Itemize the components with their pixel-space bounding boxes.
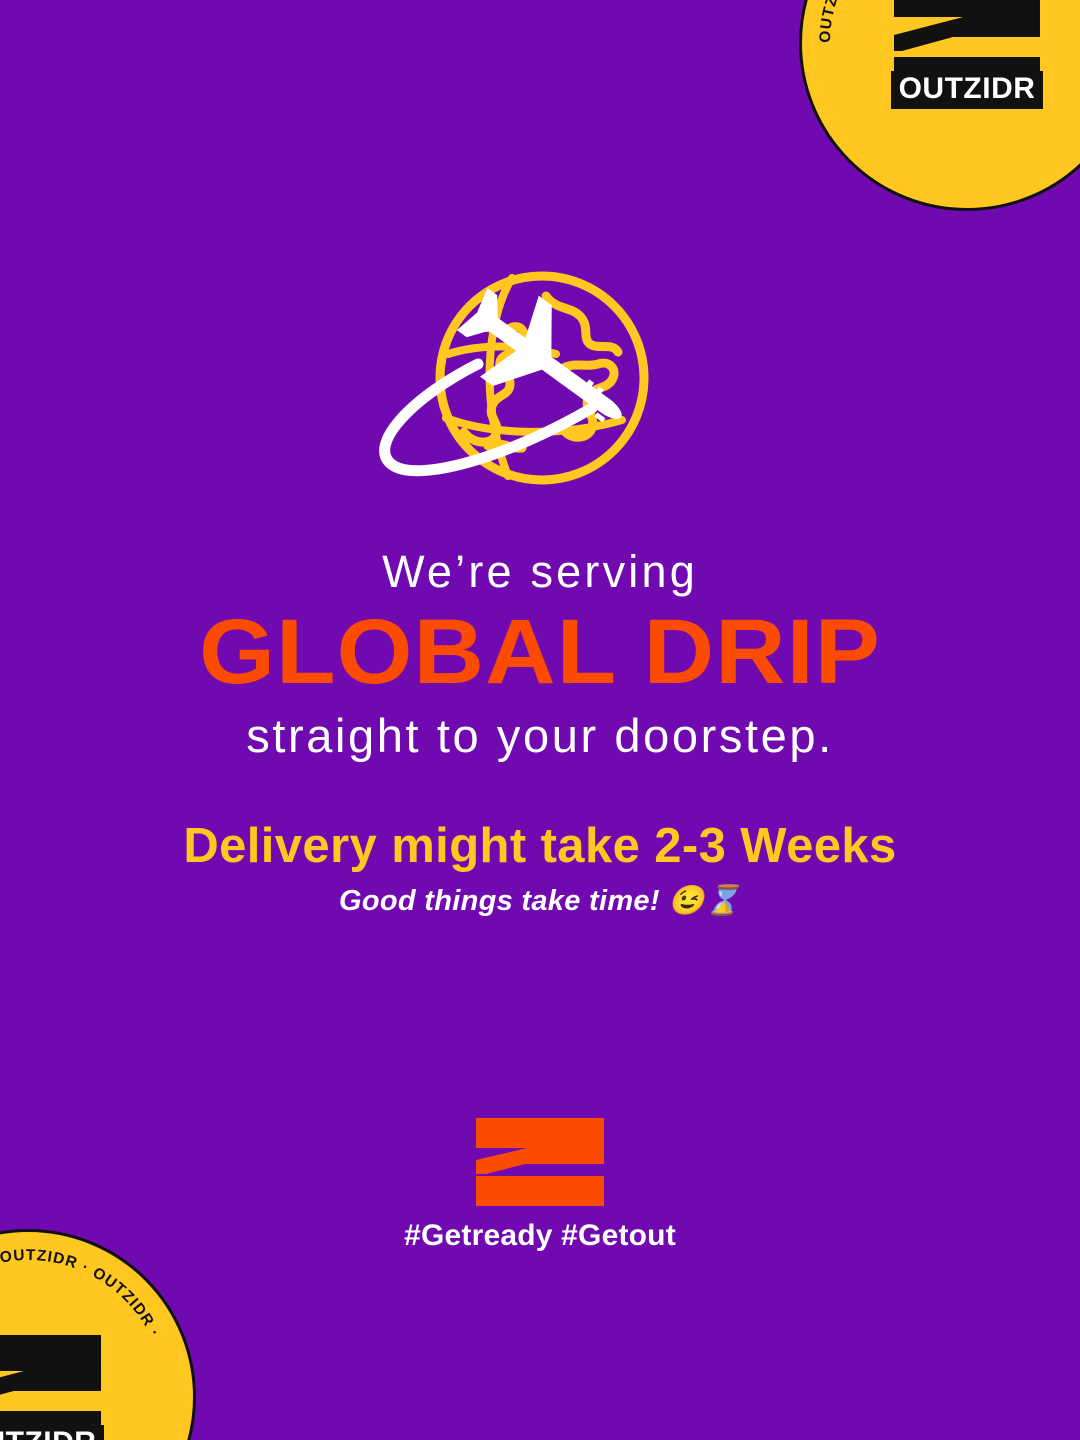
main-copy-block: We’re serving GLOBAL DRIP straight to yo… [0, 548, 1080, 761]
outzidr-z-logo-icon [476, 1118, 604, 1206]
seal-wordmark-bottom-left: OUTZIDR [0, 1425, 104, 1440]
delivery-time-text: Delivery might take 2-3 Weeks [0, 820, 1080, 874]
footer-brand-block: #Getready #Getout [0, 1118, 1080, 1253]
outzidr-z-icon [888, 0, 1046, 77]
seal-core-bottom-left: OUTZIDR [0, 1331, 123, 1440]
seal-wordmark-text-bottom-left: OUTZIDR [0, 1426, 96, 1440]
seal-core-top-right: OUTZIDR [872, 0, 1062, 109]
promo-poster: OUTZIDR · OUTZIDR · OUTZIDR · OUTZIDR · … [0, 0, 1080, 1440]
outzidr-seal-bottom-left: OUTZIDR · OUTZIDR · OUTZIDR · OUTZIDR · … [0, 1229, 196, 1440]
globe-airplane-icon [360, 268, 720, 508]
seal-wordmark-top-right: OUTZIDR [891, 71, 1044, 109]
outzidr-seal-top-right: OUTZIDR · OUTZIDR · OUTZIDR · OUTZIDR · … [799, 0, 1080, 211]
delivery-notice-block: Delivery might take 2-3 Weeks Good thing… [0, 820, 1080, 919]
hashtags-text: #Getready #Getout [0, 1219, 1080, 1253]
eyebrow-text: We’re serving [0, 548, 1080, 595]
delivery-tagline-text: Good things take time! 😉⌛ [0, 884, 1080, 919]
seal-wordmark-text-top-right: OUTZIDR [899, 72, 1036, 105]
outzidr-z-icon [0, 1331, 107, 1431]
subline-text: straight to your doorstep. [0, 711, 1080, 760]
headline-text: GLOBAL DRIP [0, 607, 1080, 697]
